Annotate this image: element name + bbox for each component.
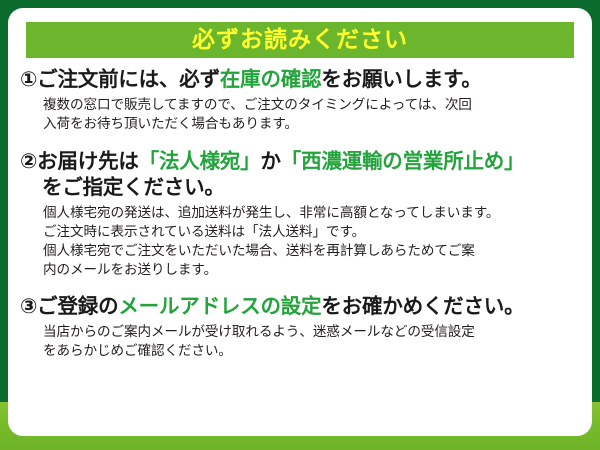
notice-item-1-body-line-1: 複数の窓口で販売してますので、ご注文のタイミングによっては、次回 <box>43 96 582 115</box>
notice-item-3-heading-part-3: をお確かめください。 <box>321 294 524 318</box>
notice-item-2: ②お届け先は「法人様宛」か「西濃運輸の営業所止め」 をご指定ください。 個人様宅… <box>20 148 582 280</box>
notice-item-2-body-line-4: 内のメールをお送りします。 <box>43 261 582 280</box>
notice-item-2-heading: ②お届け先は「法人様宛」か「西濃運輸の営業所止め」 <box>20 148 582 175</box>
notice-item-2-heading-line2: をご指定ください。 <box>20 174 582 201</box>
notice-item-3-body-line-1: 当店からのご案内メールが受け取れるよう、迷惑メールなどの受信設定 <box>43 323 582 342</box>
notice-item-3-marker: ③ <box>20 294 37 318</box>
notice-items-list: ①ご注文前には、必ず在庫の確認をお願いします。 複数の窓口で販売してますので、ご… <box>8 66 592 363</box>
notice-item-2-marker: ② <box>20 149 37 173</box>
notice-item-2-body: 個人様宅宛の発送は、追加送料が発生し、非常に高額となってしまいます。 ご注文時に… <box>20 204 582 280</box>
notice-item-2-heading-highlight-1: 「法人様宛」 <box>139 149 261 173</box>
notice-item-3-body: 当店からのご案内メールが受け取れるよう、迷惑メールなどの受信設定 をあらかじめご… <box>20 323 582 361</box>
notice-card: 必ずお読みください ①ご注文前には、必ず在庫の確認をお願いします。 複数の窓口で… <box>8 8 592 436</box>
notice-item-3-body-line-2: をあらかじめご確認ください。 <box>43 342 582 361</box>
notice-item-1-heading-part-1: ご注文前には、必ず <box>37 67 220 91</box>
notice-item-1-heading: ①ご注文前には、必ず在庫の確認をお願いします。 <box>20 66 582 93</box>
notice-item-2-body-line-2: ご注文時に表示されている送料は「法人送料」です。 <box>43 223 582 242</box>
notice-item-3-heading: ③ご登録のメールアドレスの設定をお確かめください。 <box>20 293 582 320</box>
header-banner: 必ずお読みください <box>26 22 574 58</box>
notice-item-2-heading-part-3: か <box>260 149 280 173</box>
notice-item-1: ①ご注文前には、必ず在庫の確認をお願いします。 複数の窓口で販売してますので、ご… <box>20 66 582 134</box>
notice-item-3: ③ご登録のメールアドレスの設定をお確かめください。 当店からのご案内メールが受け… <box>20 293 582 361</box>
notice-item-1-heading-highlight: 在庫の確認 <box>220 67 322 91</box>
notice-item-3-heading-part-1: ご登録の <box>37 294 118 318</box>
notice-frame: PARTSPARK 必ずお読みください ①ご注文前には、必ず在庫の確認をお願いし… <box>0 0 600 450</box>
notice-item-1-body: 複数の窓口で販売してますので、ご注文のタイミングによっては、次回 入荷をお待ち頂… <box>20 96 582 134</box>
notice-item-2-body-line-1: 個人様宅宛の発送は、追加送料が発生し、非常に高額となってしまいます。 <box>43 204 582 223</box>
notice-item-1-body-line-2: 入荷をお待ち頂いただく場合もあります。 <box>43 115 582 134</box>
page-title: 必ずお読みください <box>192 29 408 52</box>
notice-item-1-heading-part-3: をお願いします。 <box>321 67 481 91</box>
notice-item-2-heading-part-1: お届け先は <box>37 149 139 173</box>
notice-item-2-body-line-3: 個人様宅宛でご注文をいただいた場合、送料を再計算しあらためてご案 <box>43 242 582 261</box>
notice-item-2-heading-highlight-2: 「西濃運輸の営業所止め」 <box>281 149 525 173</box>
notice-item-3-heading-highlight: メールアドレスの設定 <box>118 294 321 318</box>
notice-item-1-marker: ① <box>20 67 37 91</box>
